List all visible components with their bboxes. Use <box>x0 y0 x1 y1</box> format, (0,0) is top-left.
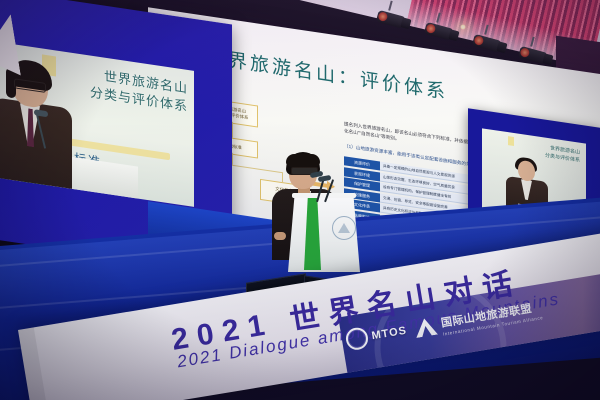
secondary-slide-accent <box>508 136 514 146</box>
podium-emblem-icon <box>332 216 356 240</box>
recessed-downlight <box>460 24 466 30</box>
mtos-logo: MTOS <box>344 320 408 352</box>
mtos-ring-icon <box>344 326 369 351</box>
podium <box>288 196 360 272</box>
flowchart-connector <box>232 153 233 165</box>
conference-stage-photo: 世界旅游名山：评价体系 世界旅游名山 分类与评价体系 基础标准 国家名山 评价标… <box>0 0 600 400</box>
main-slide-title: 世界旅游名山：评价体系 <box>206 42 448 105</box>
left-screen-feed: 世界旅游名山 分类与评价体系 基础标准 <box>0 40 194 207</box>
mountain-mark-icon <box>413 317 438 338</box>
presenter-hand <box>274 232 286 240</box>
mtos-logo-text: MTOS <box>371 325 408 343</box>
left-slide-title: 世界旅游名山 分类与评价体系 <box>58 61 188 116</box>
podium-top-surface <box>292 193 356 198</box>
flowchart-connector <box>232 122 233 138</box>
secondary-slide-title: 世界旅游名山 分类与评价体系 <box>545 144 580 165</box>
presenter-hair-fringe <box>286 154 320 167</box>
